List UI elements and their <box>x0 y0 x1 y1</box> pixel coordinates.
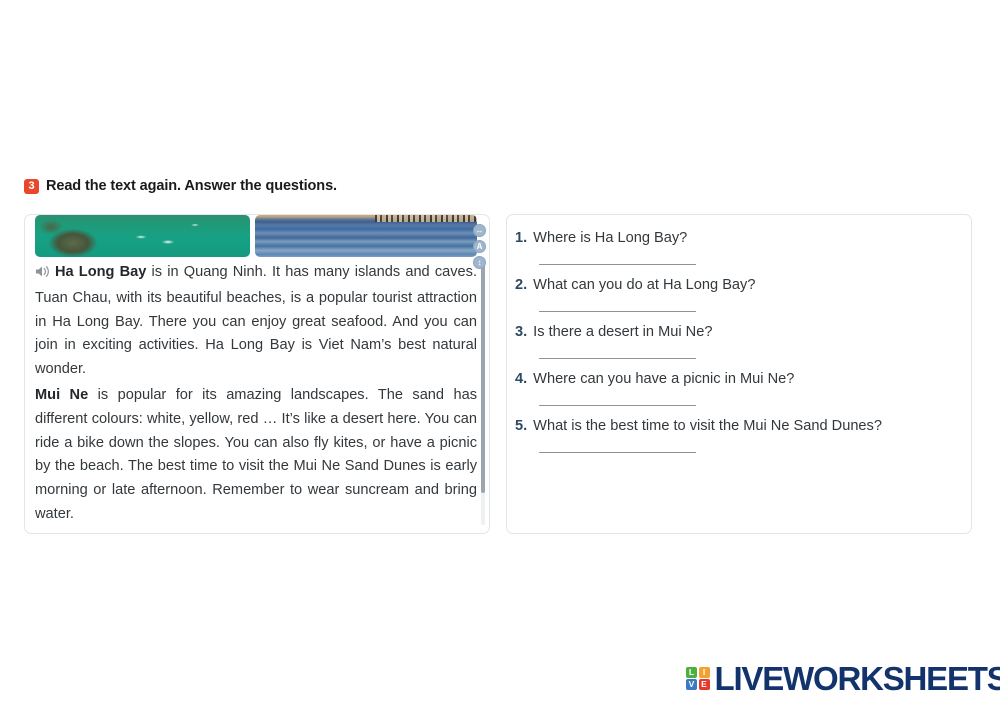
answer-input-4[interactable] <box>539 405 696 406</box>
reading-panel-inner: ↔ A ↕ Ha Long Bay is in Quang Ninh. It h… <box>25 215 489 533</box>
passage-keyword-2: Mui Ne <box>35 387 88 403</box>
answer-input-2[interactable] <box>539 311 696 312</box>
question-text-5: What is the best time to visit the Mui N… <box>533 416 882 437</box>
question-item-4: 4. Where can you have a picnic in Mui Ne… <box>515 369 961 406</box>
answer-input-1[interactable] <box>539 264 696 265</box>
passage-body-2: is popular for its amazing landscapes. T… <box>35 387 477 522</box>
exercise-heading: 3 Read the text again. Answer the questi… <box>24 178 337 194</box>
question-number-4: 4. <box>515 371 527 387</box>
question-item-2: 2. What can you do at Ha Long Bay? <box>515 275 961 312</box>
reading-passage-panel: ↔ A ↕ Ha Long Bay is in Quang Ninh. It h… <box>24 214 490 534</box>
speaker-icon[interactable] <box>35 263 51 287</box>
question-row-4: 4. Where can you have a picnic in Mui Ne… <box>515 369 961 390</box>
questions-panel: 1. Where is Ha Long Bay? 2. What can you… <box>506 214 972 534</box>
logo-tile-l: L <box>686 667 697 678</box>
logo-tiles: L I V E <box>686 667 710 691</box>
passage-images <box>35 215 477 257</box>
passage-scrollbar-thumb[interactable] <box>481 263 485 493</box>
passage-paragraph-2: Mui Ne is popular for its amazing landsc… <box>35 384 477 527</box>
logo-wordmark: LIVEWORKSHEETS <box>715 662 1000 695</box>
ha-long-bay-photo <box>35 215 250 257</box>
question-item-3: 3. Is there a desert in Mui Ne? <box>515 322 961 359</box>
question-text-4: Where can you have a picnic in Mui Ne? <box>533 369 794 390</box>
font-size-icon[interactable]: ↕ <box>473 256 486 269</box>
question-row-5: 5. What is the best time to visit the Mu… <box>515 416 961 437</box>
logo-tile-v: V <box>686 679 697 690</box>
question-item-1: 1. Where is Ha Long Bay? <box>515 228 961 265</box>
exercise-number-badge: 3 <box>24 179 39 194</box>
question-number-2: 2. <box>515 277 527 293</box>
question-text-3: Is there a desert in Mui Ne? <box>533 322 712 343</box>
question-text-2: What can you do at Ha Long Bay? <box>533 275 755 296</box>
passage-paragraph-1: Ha Long Bay is in Quang Ninh. It has man… <box>35 261 477 382</box>
question-row-2: 2. What can you do at Ha Long Bay? <box>515 275 961 296</box>
question-text-1: Where is Ha Long Bay? <box>533 228 687 249</box>
logo-tile-e: E <box>699 679 710 690</box>
passage-keyword-1: Ha Long Bay <box>55 264 146 280</box>
logo-tile-i: I <box>699 667 710 678</box>
liveworksheets-logo: L I V E LIVEWORKSHEETS <box>686 662 1000 695</box>
passage-scrollbar[interactable] <box>481 263 485 525</box>
question-number-5: 5. <box>515 418 527 434</box>
questions-list: 1. Where is Ha Long Bay? 2. What can you… <box>515 228 961 463</box>
mui-ne-photo <box>255 215 477 257</box>
question-number-1: 1. <box>515 230 527 246</box>
translate-icon[interactable]: A <box>473 240 486 253</box>
question-number-3: 3. <box>515 324 527 340</box>
exercise-instruction: Read the text again. Answer the question… <box>46 178 337 194</box>
panel-side-controls[interactable]: ↔ A ↕ <box>473 224 486 269</box>
resize-icon[interactable]: ↔ <box>473 224 486 237</box>
question-row-1: 1. Where is Ha Long Bay? <box>515 228 961 249</box>
passage-body-1: is in Quang Ninh. It has many islands an… <box>35 264 477 377</box>
question-item-5: 5. What is the best time to visit the Mu… <box>515 416 961 453</box>
answer-input-3[interactable] <box>539 358 696 359</box>
question-row-3: 3. Is there a desert in Mui Ne? <box>515 322 961 343</box>
answer-input-5[interactable] <box>539 452 696 453</box>
passage-text: Ha Long Bay is in Quang Ninh. It has man… <box>35 261 477 527</box>
